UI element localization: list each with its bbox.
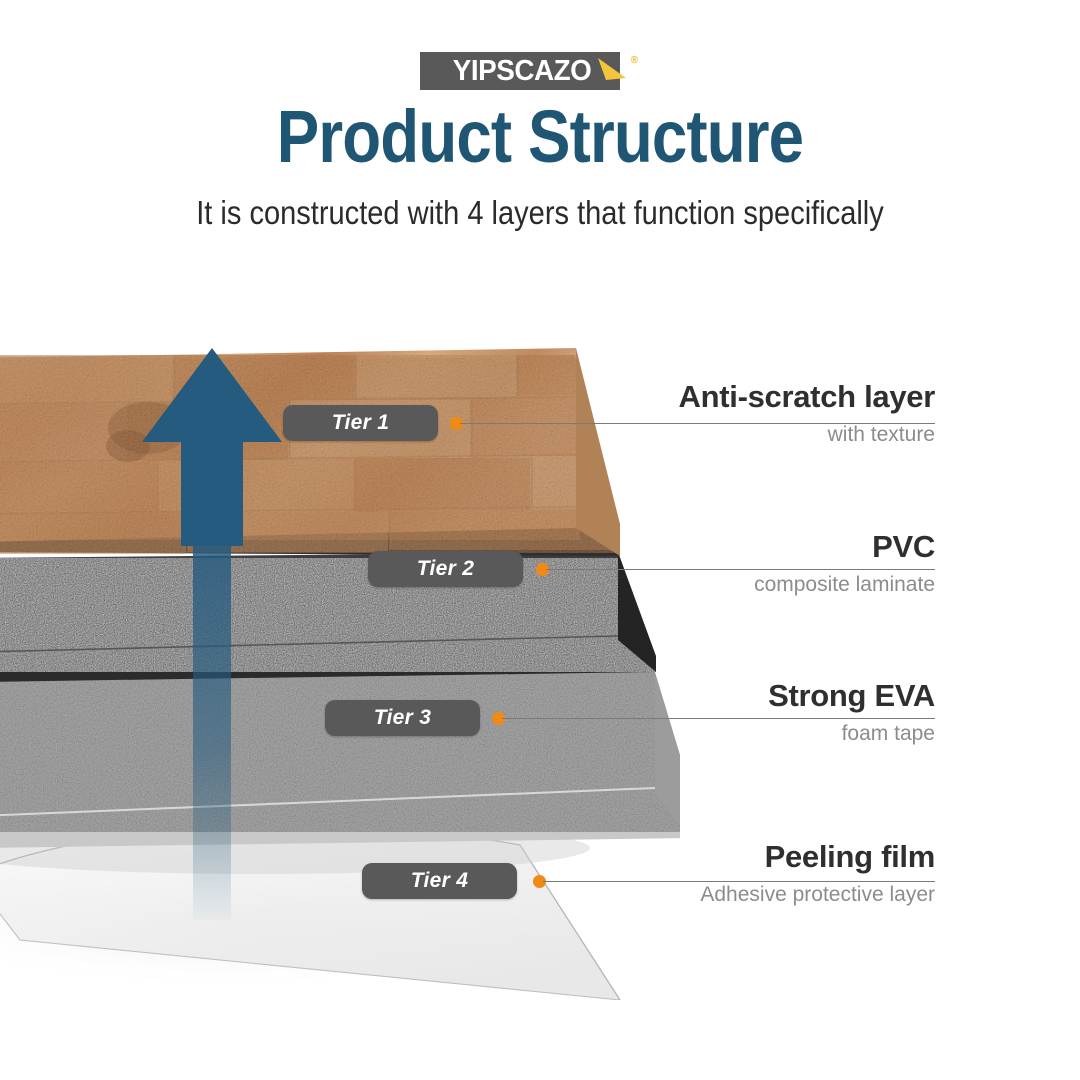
layer-label-strong-eva: Strong EVA foam tape bbox=[515, 680, 935, 746]
page-title: Product Structure bbox=[76, 98, 1005, 176]
layer-label-anti-scratch: Anti-scratch layer with texture bbox=[515, 381, 935, 447]
layer-label-title-text: Anti-scratch layer bbox=[679, 379, 935, 414]
layer-label-subtitle: with texture bbox=[515, 423, 935, 447]
layer-label-title-text: Strong EVA bbox=[768, 678, 935, 713]
logo-swoosh-icon bbox=[596, 56, 630, 88]
brand-logo-text: YIPSCAZO bbox=[449, 57, 591, 86]
tier-badge-3[interactable]: Tier 3 bbox=[325, 700, 480, 736]
tier-badge-1[interactable]: Tier 1 bbox=[283, 405, 438, 441]
page-subtitle: It is constructed with 4 layers that fun… bbox=[65, 194, 1015, 232]
tier-badge-4[interactable]: Tier 4 bbox=[362, 863, 517, 899]
registered-trademark-icon: ® bbox=[631, 55, 638, 66]
layer-label-subtitle: Adhesive protective layer bbox=[515, 883, 935, 907]
brand-logo: YIPSCAZO ® bbox=[420, 52, 620, 90]
layer-label-title: PVC bbox=[872, 531, 935, 562]
layer-label-subtitle: foam tape bbox=[515, 722, 935, 746]
product-structure-infographic: YIPSCAZO ® Product Structure It is const… bbox=[0, 0, 1080, 1080]
layer-label-pvc: PVC composite laminate bbox=[515, 531, 935, 597]
layer-label-title-text: Peeling film bbox=[765, 839, 935, 874]
layer-label-title: Strong EVA bbox=[768, 680, 935, 711]
layer-label-title-text: PVC bbox=[872, 529, 935, 564]
layer-label-peeling-film: Peeling film Adhesive protective layer bbox=[515, 841, 935, 907]
layer-label-title: Peeling film bbox=[765, 841, 935, 872]
layer-label-title: Anti-scratch layer bbox=[679, 381, 935, 412]
tier-badge-2[interactable]: Tier 2 bbox=[368, 551, 523, 587]
layer-label-subtitle: composite laminate bbox=[515, 573, 935, 597]
layer-1-anti-scratch bbox=[0, 347, 642, 556]
